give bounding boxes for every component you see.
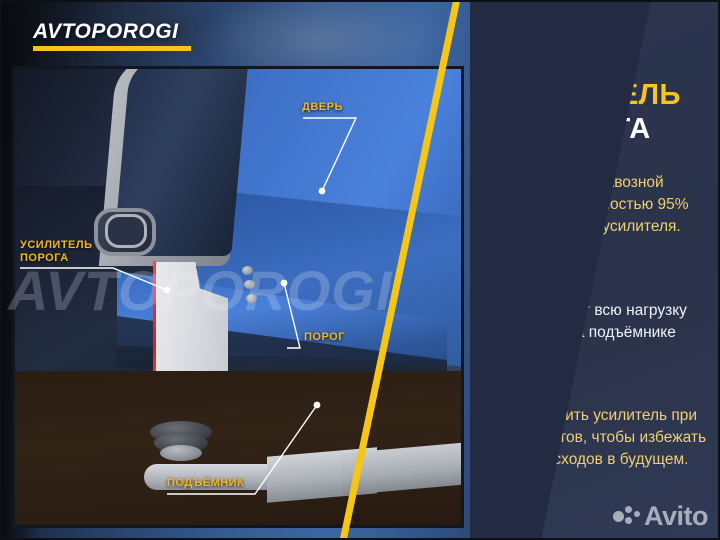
callout-label-reinforcer: УСИЛИТЕЛЬ ПОРОГА [20, 239, 93, 265]
panel-title-line2: ПОРОГА [458, 112, 720, 146]
avito-wordmark: Avito [644, 501, 708, 532]
brand-logo-text: AVTOPOROGI [33, 20, 191, 44]
panel-title-line1: УСИЛИТЕЛЬ [458, 78, 720, 112]
brand-logo-underline [33, 46, 191, 51]
panel-paragraph-1: При образовании сквозной коррозии с веро… [470, 172, 715, 238]
bolt-icon [242, 266, 253, 275]
info-panel: УСИЛИТЕЛЬ ПОРОГА При образовании сквозно… [458, 0, 720, 540]
promo-image: AVTOPOROGI ДВЕРЬ УСИЛИТЕЛЬ ПОРОГА ПОРОГ … [0, 0, 720, 540]
door-hinge-inner [105, 214, 147, 248]
lift-puck-base [160, 445, 202, 461]
panel-title: УСИЛИТЕЛЬ ПОРОГА [458, 78, 720, 146]
avito-logo-icon [613, 506, 639, 528]
brand-logo: AVTOPOROGI [33, 20, 191, 51]
panel-paragraph-3: Лучше заменить усилитель при замене поро… [470, 405, 715, 471]
panel-paragraph-2: Усилитель несёт всю нагрузку при подъёме… [470, 300, 715, 366]
callout-label-lift: ПОДЪЁМНИК [167, 477, 244, 490]
avito-watermark: Avito [613, 501, 708, 532]
bolt-icon [246, 294, 257, 303]
cutaway-illustration [12, 66, 464, 528]
callout-label-sill: ПОРОГ [304, 331, 345, 344]
callout-label-door: ДВЕРЬ [302, 101, 343, 114]
bolt-icon [244, 280, 255, 289]
